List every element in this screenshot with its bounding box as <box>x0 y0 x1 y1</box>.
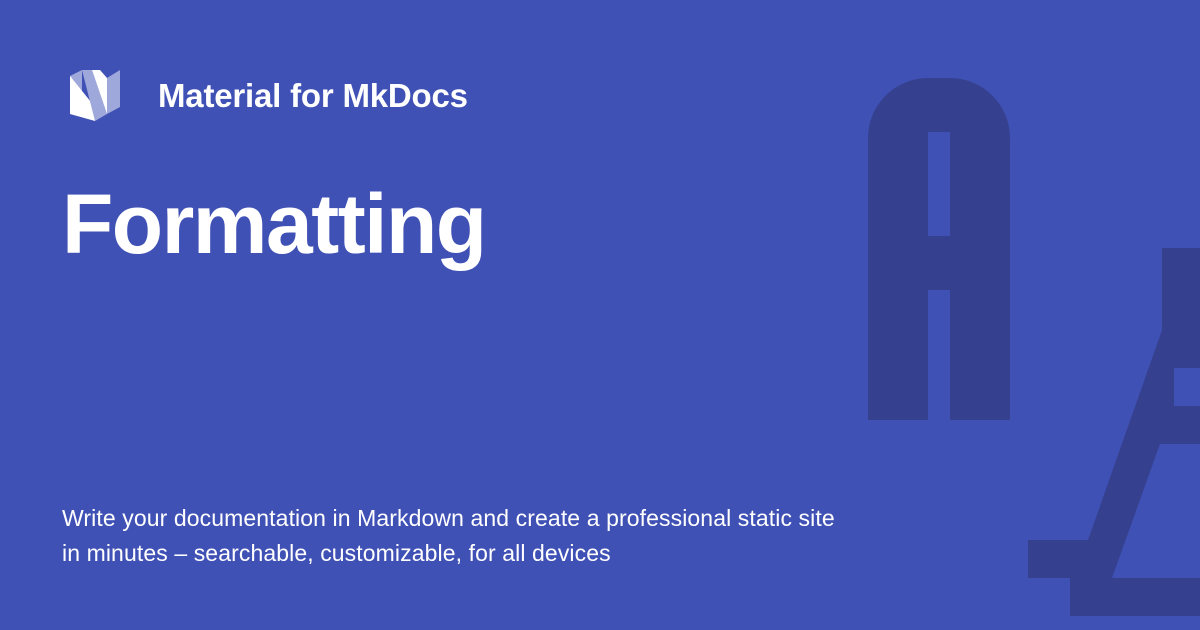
page-description: Write your documentation in Markdown and… <box>62 501 892 572</box>
page-title: Formatting <box>62 180 862 268</box>
description-line-1: Write your documentation in Markdown and… <box>62 501 892 537</box>
social-card: Material for MkDocs Formatting Write you… <box>0 0 1200 630</box>
material-mkdocs-logo-icon <box>62 62 128 128</box>
site-name: Material for MkDocs <box>158 79 468 112</box>
description-line-2: in minutes – searchable, customizable, f… <box>62 536 892 572</box>
site-header: Material for MkDocs <box>62 62 468 128</box>
